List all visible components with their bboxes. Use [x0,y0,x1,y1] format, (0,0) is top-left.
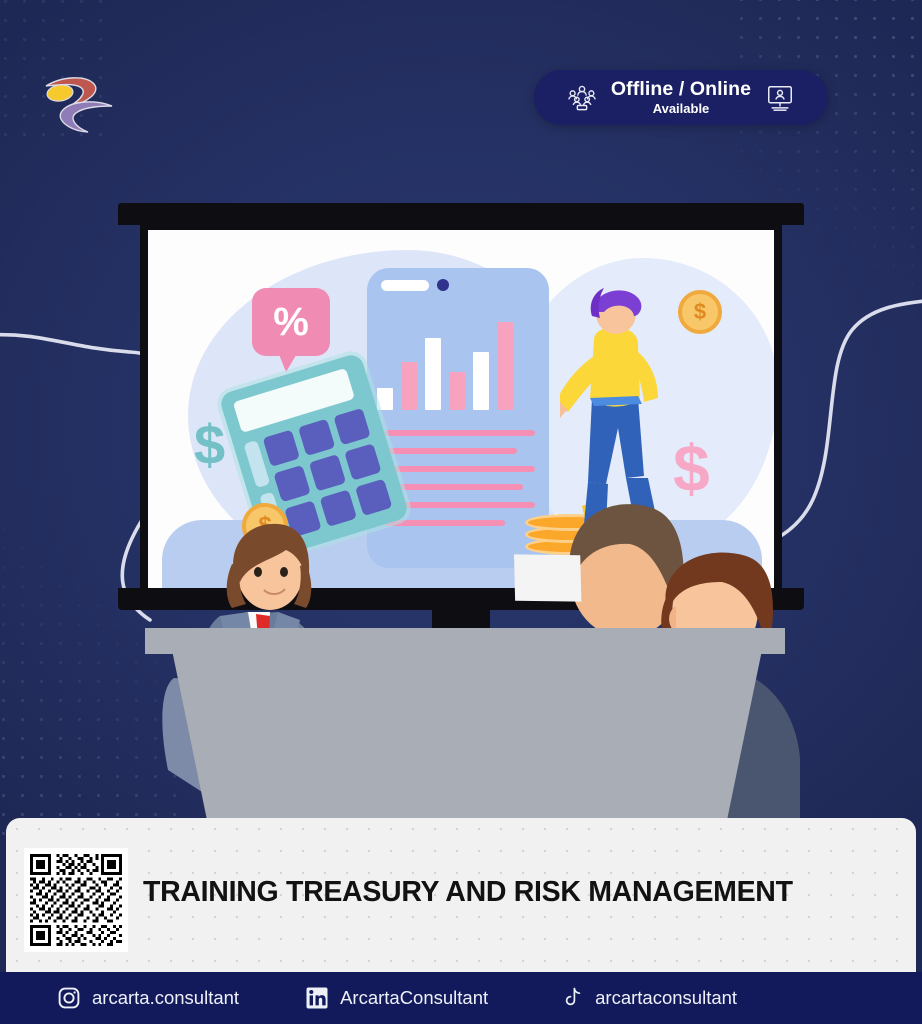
social-item-linkedin[interactable]: ArcartaConsultant [305,986,488,1010]
page-title: TRAINING TREASURY AND RISK MANAGEMENT [143,876,903,909]
badge-sub-label: Available [611,102,751,116]
bar [473,352,489,410]
badge-main-label: Offline / Online [611,79,751,99]
calculator-key [355,479,392,516]
percent-badge: % [252,288,330,356]
calculator-key [309,454,346,491]
bar [377,388,393,410]
calculator-key [333,408,370,445]
dollar-symbol-left: $ [194,412,225,477]
instagram-icon [57,986,81,1010]
linkedin-icon [305,986,329,1010]
tablet-camera-dot [437,279,449,291]
bar [449,372,465,410]
bar [425,338,441,410]
webinar-monitor-icon [765,83,795,113]
conference-table-body [172,650,762,822]
calculator-key [344,443,381,480]
group-meeting-icon [567,83,597,113]
bar [497,322,513,410]
poster-canvas: Offline / Online Available [0,0,922,1024]
social-item-instagram[interactable]: arcarta.consultant [57,986,239,1010]
calculator-key [273,465,310,502]
social-handle-instagram: arcarta.consultant [92,987,239,1009]
social-handle-linkedin: ArcartaConsultant [340,987,488,1009]
social-item-tiktok[interactable]: arcartaconsultant [560,986,737,1010]
bar [401,362,417,410]
bar-chart [377,310,537,410]
coin-right: $ [678,290,722,334]
social-handle-tiktok: arcartaconsultant [595,987,737,1009]
text-line [385,448,517,454]
social-footer: arcarta.consultant ArcartaConsultant arc… [0,972,922,1024]
availability-badge[interactable]: Offline / Online Available [534,70,828,125]
badge-text: Offline / Online Available [611,79,751,115]
text-line [385,430,535,436]
tablet-speaker [381,280,429,291]
calculator-key [298,419,335,456]
qr-code[interactable] [24,848,128,952]
arcarta-logo[interactable] [40,70,118,136]
tiktok-icon [560,986,584,1010]
calculator-key [263,429,300,466]
